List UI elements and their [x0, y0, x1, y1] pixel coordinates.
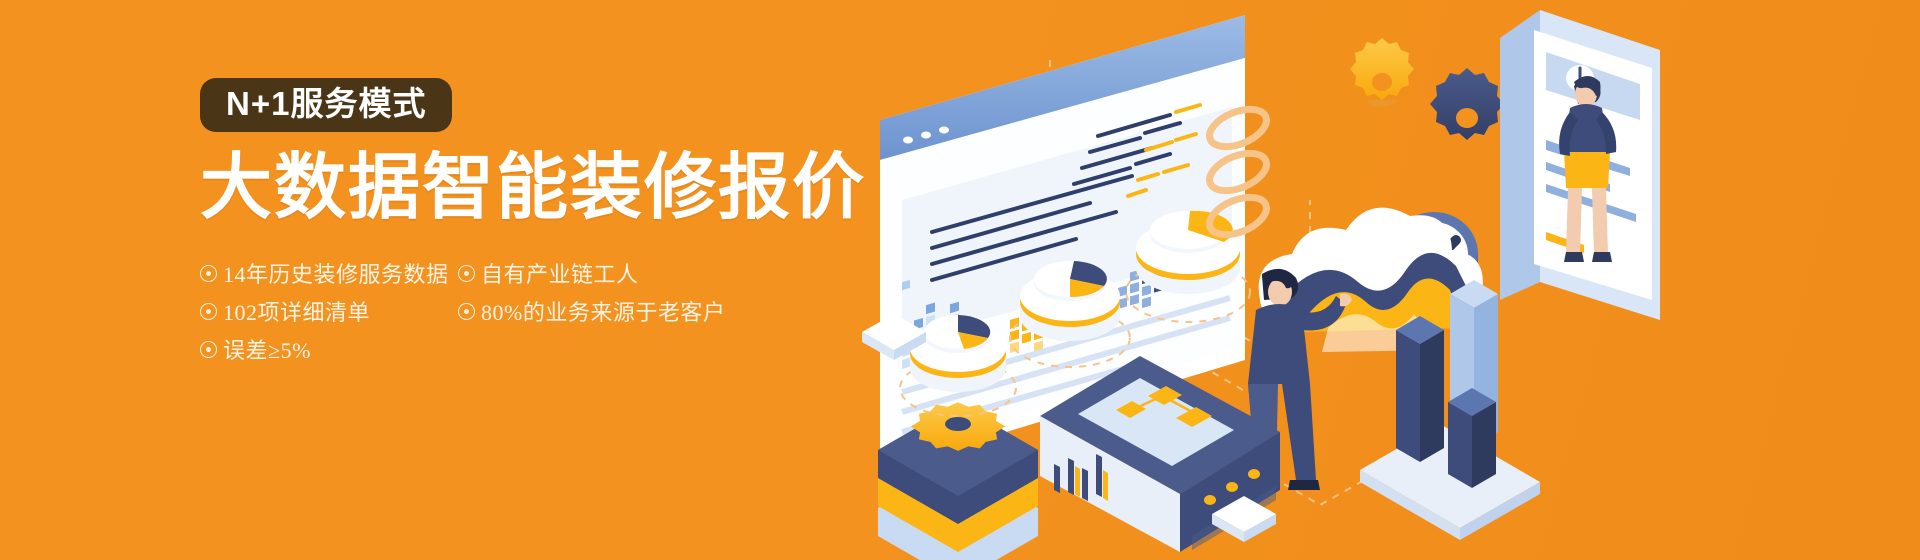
list-item: 误差≥5%: [200, 333, 450, 365]
circled-dot-icon: [200, 303, 217, 320]
gear-yellow-icon: [1350, 38, 1414, 107]
list-item-label: 误差≥5%: [223, 333, 311, 365]
list-item-label: 102项详细清单: [223, 295, 370, 327]
service-model-badge: N+1服务模式: [200, 78, 452, 132]
gear-navy-icon: [1430, 68, 1504, 140]
circled-dot-icon: [200, 341, 217, 358]
promo-banner: N+1服务模式 大数据智能装修报价 14年历史装修服务数据 自有产业链工人 10…: [0, 0, 1920, 560]
list-item: 80%的业务来源于老客户: [458, 295, 778, 327]
list-item-label: 80%的业务来源于老客户: [481, 295, 725, 327]
list-item: 自有产业链工人: [458, 257, 778, 289]
list-item: 14年历史装修服务数据: [200, 257, 450, 289]
circled-dot-icon: [458, 303, 475, 320]
hero-illustration: [840, 0, 1920, 560]
list-item: 102项详细清单: [200, 295, 450, 327]
list-item-label: 自有产业链工人: [481, 257, 639, 289]
list-item-label: 14年历史装修服务数据: [223, 257, 449, 289]
circled-dot-icon: [458, 265, 475, 282]
circled-dot-icon: [200, 265, 217, 282]
